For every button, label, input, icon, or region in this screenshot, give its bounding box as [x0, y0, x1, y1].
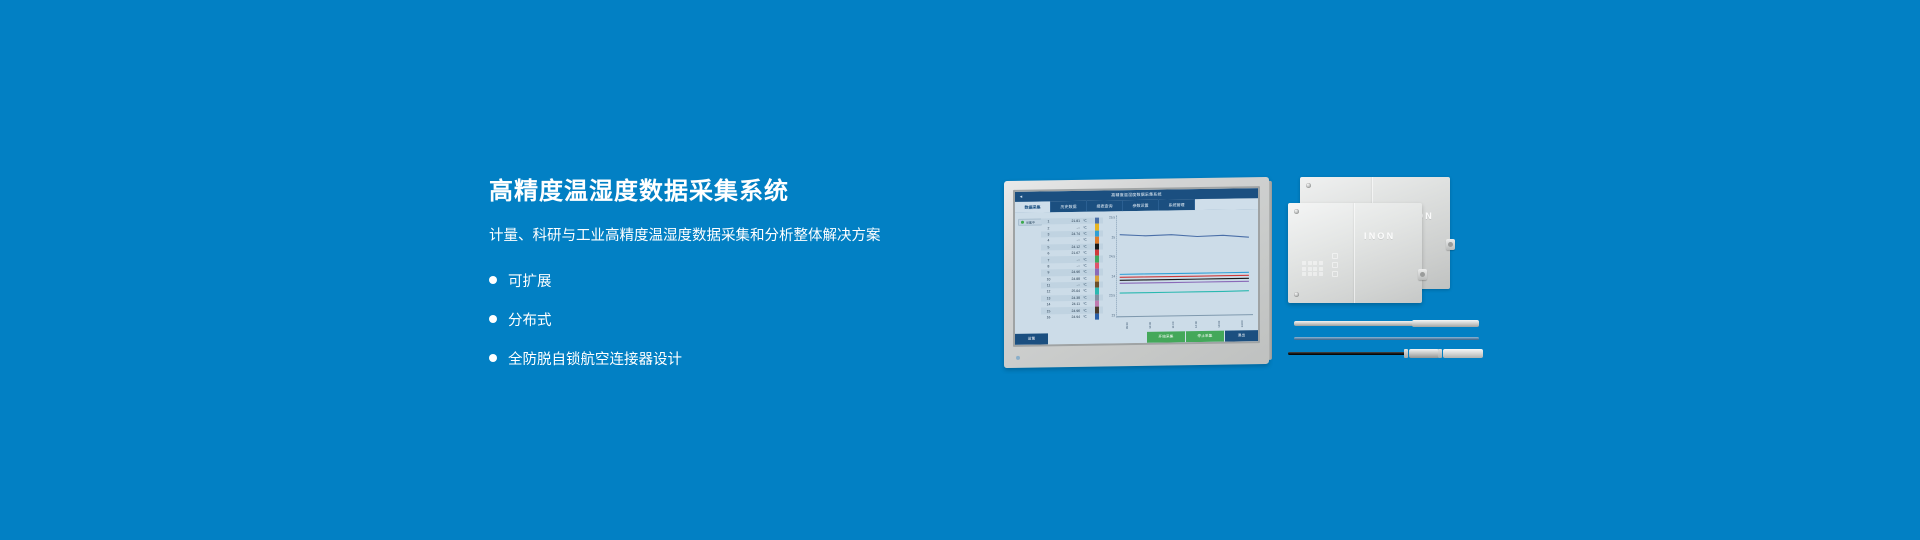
connector-ring — [1404, 349, 1408, 358]
start-acquisition-button[interactable]: 开始采集 — [1147, 331, 1186, 343]
connector-port — [1418, 269, 1427, 280]
channel-value: 24.38 — [1056, 296, 1083, 300]
chart-series-line — [1120, 281, 1249, 283]
channel-unit: ℃ — [1083, 302, 1095, 306]
channel-number: 3 — [1041, 232, 1056, 236]
tab-data-acquisition[interactable]: 数据采集 — [1015, 201, 1051, 213]
channel-value: --- — [1056, 257, 1083, 261]
x-tick-label: 12:00 — [1194, 317, 1198, 328]
connector-barrel — [1409, 349, 1439, 358]
channel-number: 2 — [1041, 226, 1056, 230]
connector-ring — [1438, 349, 1442, 358]
channel-table: 121.81℃2---℃324.74℃4---℃524.12℃621.67℃7-… — [1041, 212, 1103, 333]
status-label: 采集中 — [1026, 220, 1035, 224]
y-tick-label: 23 — [1112, 313, 1115, 317]
x-tick-label: 09:00 — [1125, 318, 1129, 329]
channel-value: 24.96 — [1056, 270, 1083, 274]
channel-unit: ℃ — [1083, 264, 1095, 268]
channel-number: 15 — [1041, 309, 1056, 313]
y-tick-label: 25.5 — [1109, 215, 1115, 219]
feature-label: 可扩展 — [508, 270, 552, 291]
connector-housing — [1443, 349, 1483, 358]
page-title: 高精度温湿度数据采集系统 — [489, 178, 959, 207]
channel-value: 24.11 — [1056, 302, 1083, 306]
channel-number: 6 — [1041, 251, 1056, 255]
list-item: 分布式 — [489, 306, 959, 333]
chart-series-line — [1120, 233, 1249, 240]
channel-unit: ℃ — [1083, 283, 1095, 287]
chart-lines — [1117, 213, 1253, 316]
y-tick-label: 24 — [1112, 274, 1115, 278]
feature-label: 全防脱自锁航空连接器设计 — [508, 348, 682, 369]
bullet-dot-icon — [489, 354, 497, 362]
channel-unit: ℃ — [1083, 244, 1095, 248]
page-subtitle: 计量、科研与工业高精度温湿度数据采集和分析整体解决方案 — [489, 227, 959, 246]
connector-port — [1446, 239, 1455, 250]
channel-unit: ℃ — [1083, 225, 1095, 229]
screw-icon — [1306, 183, 1311, 188]
channel-unit: ℃ — [1083, 296, 1095, 300]
bullet-dot-icon — [489, 315, 497, 323]
chart-series-line — [1120, 275, 1249, 277]
x-tick-label: 10:00 — [1148, 318, 1152, 329]
tab-history-data[interactable]: 历史数据 — [1051, 201, 1087, 213]
channel-value: --- — [1056, 225, 1083, 229]
channel-value: --- — [1056, 283, 1083, 287]
channel-unit: ℃ — [1083, 238, 1095, 242]
channel-number: 8 — [1041, 264, 1056, 268]
channel-value: 24.88 — [1056, 277, 1083, 281]
x-tick-label: 13:00 — [1217, 317, 1221, 328]
channel-value: 25.04 — [1056, 289, 1083, 293]
channel-unit: ℃ — [1083, 257, 1095, 261]
channel-unit: ℃ — [1083, 276, 1095, 280]
channel-value: 24.74 — [1056, 232, 1083, 236]
chart-plot-area — [1116, 213, 1253, 317]
humidity-probe-cable — [1294, 336, 1479, 341]
screen-sidebar: 采集中 — [1015, 213, 1041, 333]
channel-number: 9 — [1041, 271, 1056, 275]
panel-pc-chin — [1004, 343, 1269, 368]
chart-x-axis: 09:0010:0011:0012:0013:0014:00 — [1116, 316, 1253, 329]
y-tick-label: 23.5 — [1109, 294, 1115, 298]
screen-window-title: 高精度温湿度数据采集系统 — [1015, 190, 1258, 200]
tab-report-query[interactable]: 报表查询 — [1087, 200, 1123, 212]
list-item: 可扩展 — [489, 267, 959, 294]
cable — [1294, 337, 1479, 340]
series-color-swatch — [1095, 313, 1099, 319]
copy-block: 高精度温湿度数据采集系统 计量、科研与工业高精度温湿度数据采集和分析整体解决方案… — [489, 178, 959, 384]
bullet-dot-icon — [489, 276, 497, 284]
label-imprint — [1332, 253, 1338, 277]
channel-number: 11 — [1041, 283, 1056, 287]
feature-label: 分布式 — [508, 309, 552, 330]
stop-acquisition-button[interactable]: 停止采集 — [1186, 330, 1225, 342]
acquisition-module-front: INON — [1288, 203, 1422, 303]
screw-icon — [1294, 292, 1299, 297]
trend-chart: 25.52524.52423.523 09:0010:0011:0012:001… — [1103, 209, 1258, 331]
status-dot-icon — [1021, 221, 1024, 224]
settings-button[interactable]: 设置 — [1015, 333, 1048, 345]
channel-number: 4 — [1041, 239, 1056, 243]
list-item: 全防脱自锁航空连接器设计 — [489, 345, 959, 372]
channel-number: 13 — [1041, 296, 1056, 300]
tab-system-admin[interactable]: 系统管理 — [1159, 199, 1195, 211]
screen-footer: 设置 开始采集 停止采集 退出 — [1015, 329, 1258, 345]
channel-value: 24.96 — [1056, 308, 1083, 312]
screw-icon — [1294, 209, 1299, 214]
y-tick-label: 24.5 — [1109, 255, 1115, 259]
channel-unit: ℃ — [1083, 219, 1095, 223]
channel-unit: ℃ — [1083, 232, 1095, 236]
chart-y-axis: 25.52524.52423.523 — [1105, 215, 1115, 317]
panel-pc-bezel: ◄ 高精度温湿度数据采集系统 数据采集 历史数据 报表查询 参数设置 系统管理 — [1013, 186, 1260, 347]
channel-number: 10 — [1041, 277, 1056, 281]
chart-series-line — [1120, 272, 1249, 274]
channel-unit: ℃ — [1083, 289, 1095, 293]
footer-spacer — [1048, 337, 1147, 339]
exit-button[interactable]: 退出 — [1225, 330, 1258, 342]
x-tick-label: 14:00 — [1240, 316, 1244, 327]
channel-number: 16 — [1041, 315, 1056, 319]
channel-number: 7 — [1041, 258, 1056, 262]
product-banner: 高精度温湿度数据采集系统 计量、科研与工业高精度温湿度数据采集和分析整体解决方案… — [0, 0, 1920, 540]
tab-parameter-settings[interactable]: 参数设置 — [1123, 200, 1159, 212]
channel-unit: ℃ — [1083, 251, 1095, 255]
x-tick-label: 11:00 — [1171, 317, 1175, 328]
power-led-icon — [1016, 355, 1020, 359]
channel-number: 5 — [1041, 245, 1056, 249]
channel-number: 14 — [1041, 303, 1056, 307]
channel-value: 21.67 — [1056, 251, 1083, 255]
brand-logo: INON — [1364, 231, 1395, 241]
table-row[interactable]: 1624.94℃ — [1041, 313, 1103, 320]
channel-unit: ℃ — [1083, 270, 1095, 274]
channel-value: 21.81 — [1056, 219, 1083, 223]
channel-value: 24.12 — [1056, 245, 1083, 249]
channel-unit: ℃ — [1083, 315, 1095, 319]
y-tick-label: 25 — [1112, 235, 1115, 239]
panel-pc-device: ◄ 高精度温湿度数据采集系统 数据采集 历史数据 报表查询 参数设置 系统管理 — [1004, 177, 1269, 368]
channel-value: 24.94 — [1056, 315, 1083, 319]
probe-shaft — [1294, 321, 1414, 326]
status-badge: 采集中 — [1018, 218, 1042, 225]
temperature-probe — [1294, 320, 1479, 328]
chart-series-line — [1120, 278, 1249, 280]
probe-tip — [1412, 320, 1479, 327]
keypad-imprint — [1302, 261, 1323, 276]
channel-number: 12 — [1041, 290, 1056, 294]
software-screen: ◄ 高精度温湿度数据采集系统 数据采集 历史数据 报表查询 参数设置 系统管理 — [1015, 188, 1258, 345]
channel-value: --- — [1056, 238, 1083, 242]
channel-value: --- — [1056, 264, 1083, 268]
module-seam — [1354, 203, 1355, 303]
screen-body: 采集中 121.81℃2---℃324.74℃4---℃524.12℃621.6… — [1015, 209, 1258, 333]
chart-series-line — [1120, 291, 1249, 293]
aviation-connector-cable — [1288, 348, 1483, 359]
feature-list: 可扩展 分布式 全防脱自锁航空连接器设计 — [489, 267, 959, 372]
cable — [1288, 352, 1408, 355]
channel-unit: ℃ — [1083, 308, 1095, 312]
channel-number: 1 — [1041, 219, 1056, 223]
